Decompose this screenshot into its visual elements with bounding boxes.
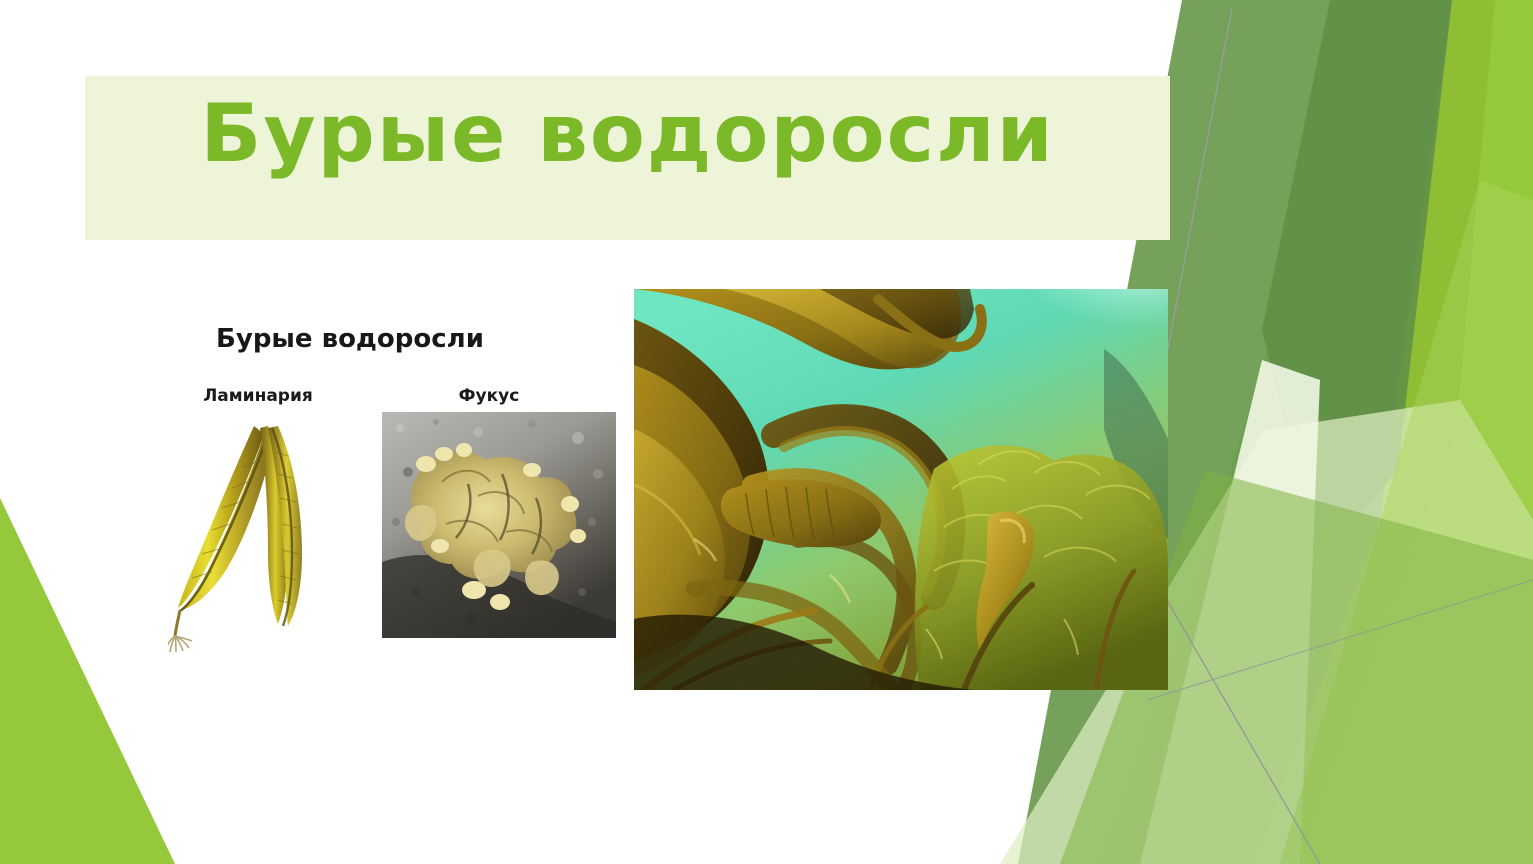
fucus-label: Фукус	[346, 386, 596, 406]
title-banner: Бурые водоросли	[85, 76, 1170, 240]
dark-green-overlap	[1262, 0, 1452, 560]
presentation-slide: Бурые водоросли Бурые водоросли Ламинари…	[0, 0, 1533, 864]
fucus-photo	[382, 412, 616, 638]
left-green-wedge	[0, 498, 175, 864]
light-wash-overlay	[1280, 180, 1533, 864]
feathery-algae-bed	[915, 445, 1168, 690]
laminaria-label: Ламинария	[168, 386, 348, 406]
kelp-forest-photo-canvas	[634, 289, 1168, 690]
brown-algae-diagram: Бурые водоросли Ламинария	[150, 300, 610, 680]
page-title: Бурые водоросли	[85, 92, 1170, 176]
hairline-diagonal-cross	[1147, 580, 1533, 700]
diagram-item-fucus: Фукус	[346, 386, 596, 638]
laminaria-holdfast	[168, 636, 192, 652]
fucus-art-wrapper	[382, 412, 616, 638]
laminaria-illustration	[168, 412, 338, 654]
laminaria-art-wrapper	[168, 412, 348, 659]
diagram-item-laminaria: Ламинария	[168, 386, 348, 659]
laminaria-stipe	[175, 610, 180, 636]
diagram-heading: Бурые водоросли	[150, 324, 550, 354]
kelp-forest-photo	[634, 289, 1168, 690]
